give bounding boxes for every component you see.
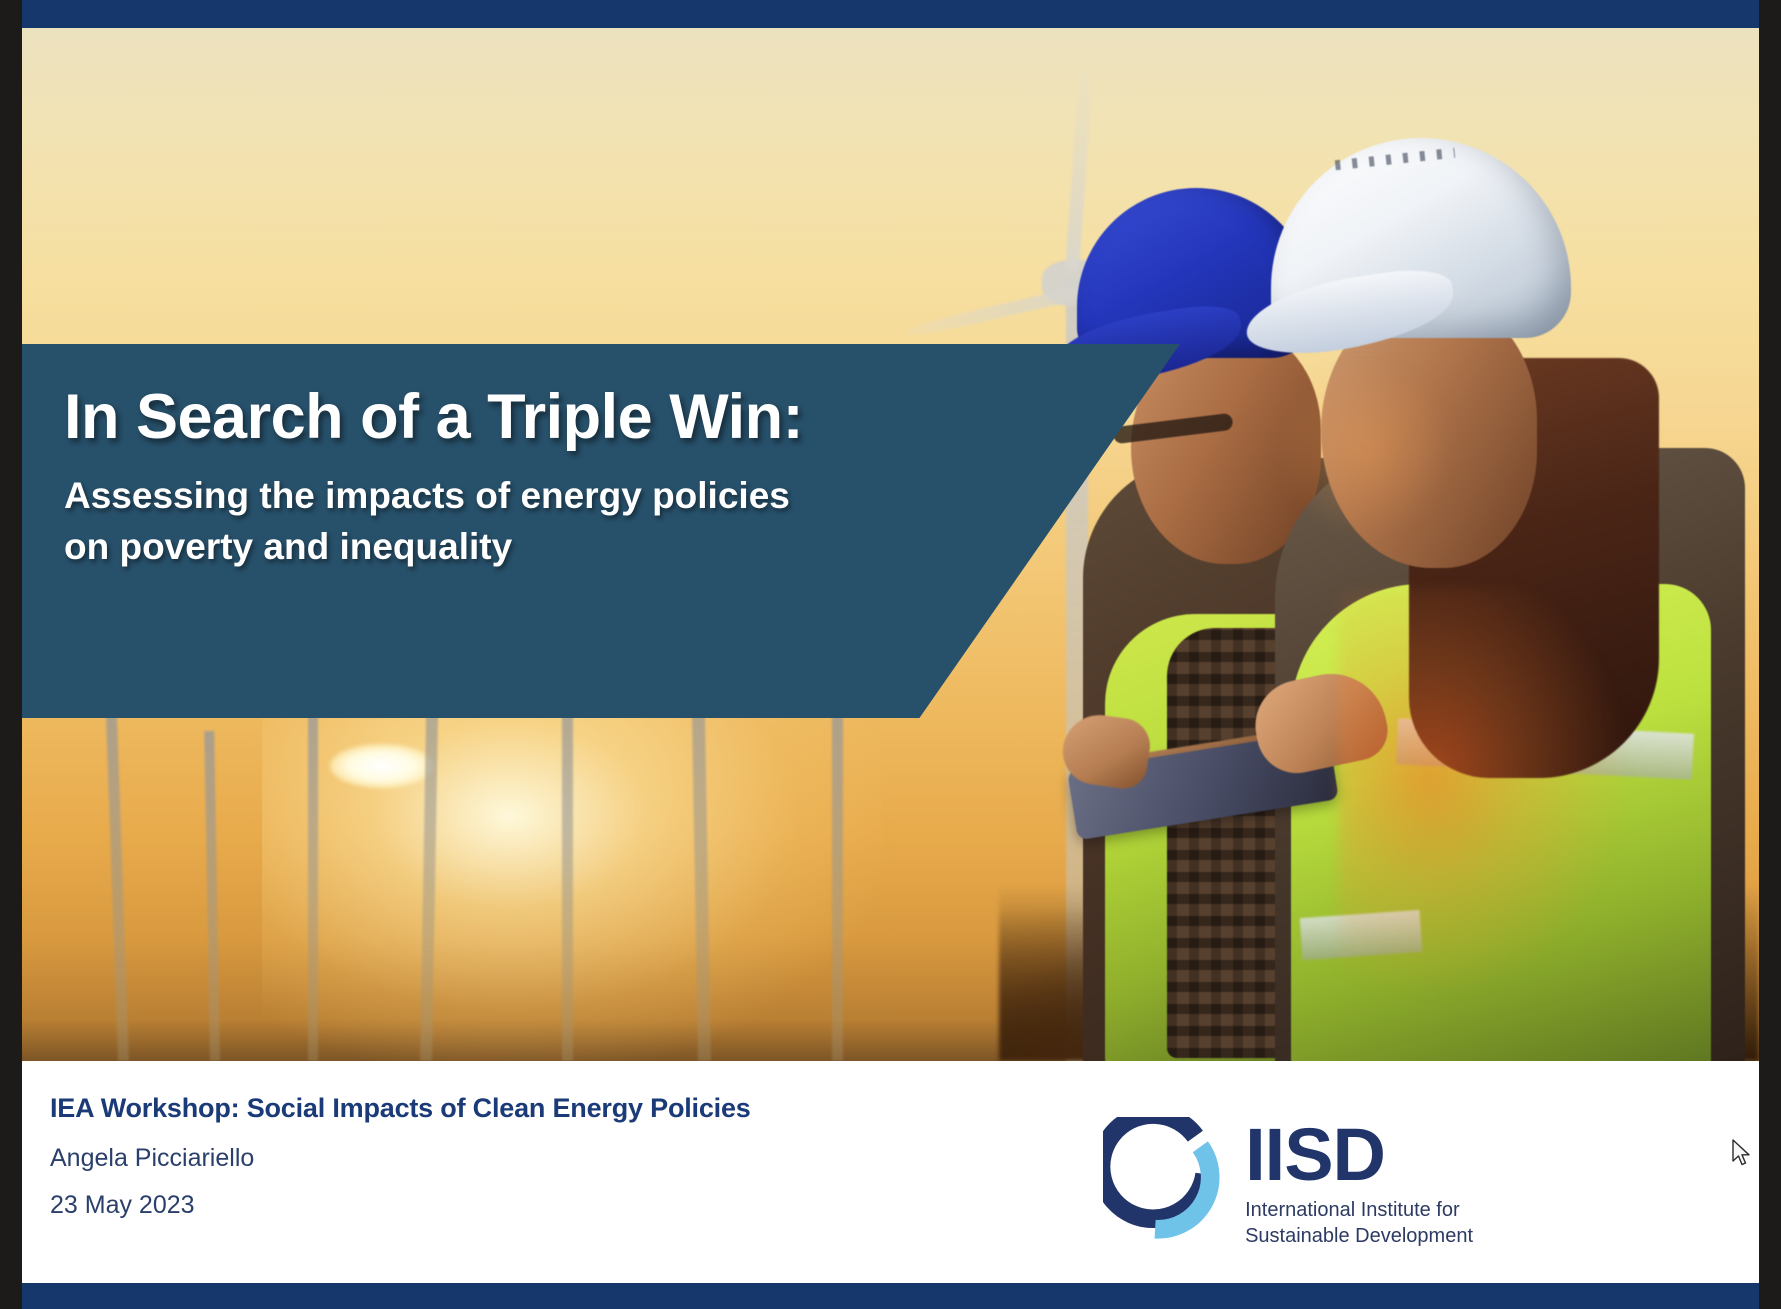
hero-photo: In Search of a Triple Win: Assessing the… [22,28,1759,1061]
slide-subtitle: Assessing the impacts of energy policies… [64,470,1180,572]
bottom-accent-bar [22,1283,1759,1309]
iisd-tagline-line-1: International Institute for [1245,1197,1473,1223]
slide-viewer: In Search of a Triple Win: Assessing the… [0,0,1781,1309]
iisd-tagline-line-2: Sustainable Development [1245,1223,1473,1249]
slide-title: In Search of a Triple Win: [64,384,1180,450]
lens-flare [1339,588,1639,1008]
footer-author-name: Angela Picciariello [50,1144,751,1173]
top-accent-bar [22,0,1759,28]
wind-turbine-tower [308,711,318,1061]
iisd-wordmark: IISD [1245,1121,1473,1189]
iisd-tagline: International Institute for Sustainable … [1245,1197,1473,1249]
iisd-circle-mark-icon [1103,1117,1227,1241]
wind-turbine-tower [832,701,843,1061]
wind-turbine-tower [562,671,573,1061]
slide-subtitle-line-2: on poverty and inequality [64,521,1180,572]
workers-group [1039,28,1759,1061]
iisd-logo-text: IISD International Institute for Sustain… [1245,1113,1473,1249]
footer-date: 23 May 2023 [50,1191,751,1220]
sun-icon [330,744,434,788]
slide-subtitle-line-1: Assessing the impacts of energy policies [64,470,1180,521]
slide-footer: IEA Workshop: Social Impacts of Clean En… [22,1061,1759,1283]
footer-text-block: IEA Workshop: Social Impacts of Clean En… [50,1093,751,1220]
mouse-cursor [1731,1139,1753,1169]
presentation-slide: In Search of a Triple Win: Assessing the… [22,0,1759,1309]
lens-flare [1275,358,1455,538]
iisd-logo: IISD International Institute for Sustain… [1103,1113,1473,1249]
footer-event-title: IEA Workshop: Social Impacts of Clean En… [50,1093,751,1124]
